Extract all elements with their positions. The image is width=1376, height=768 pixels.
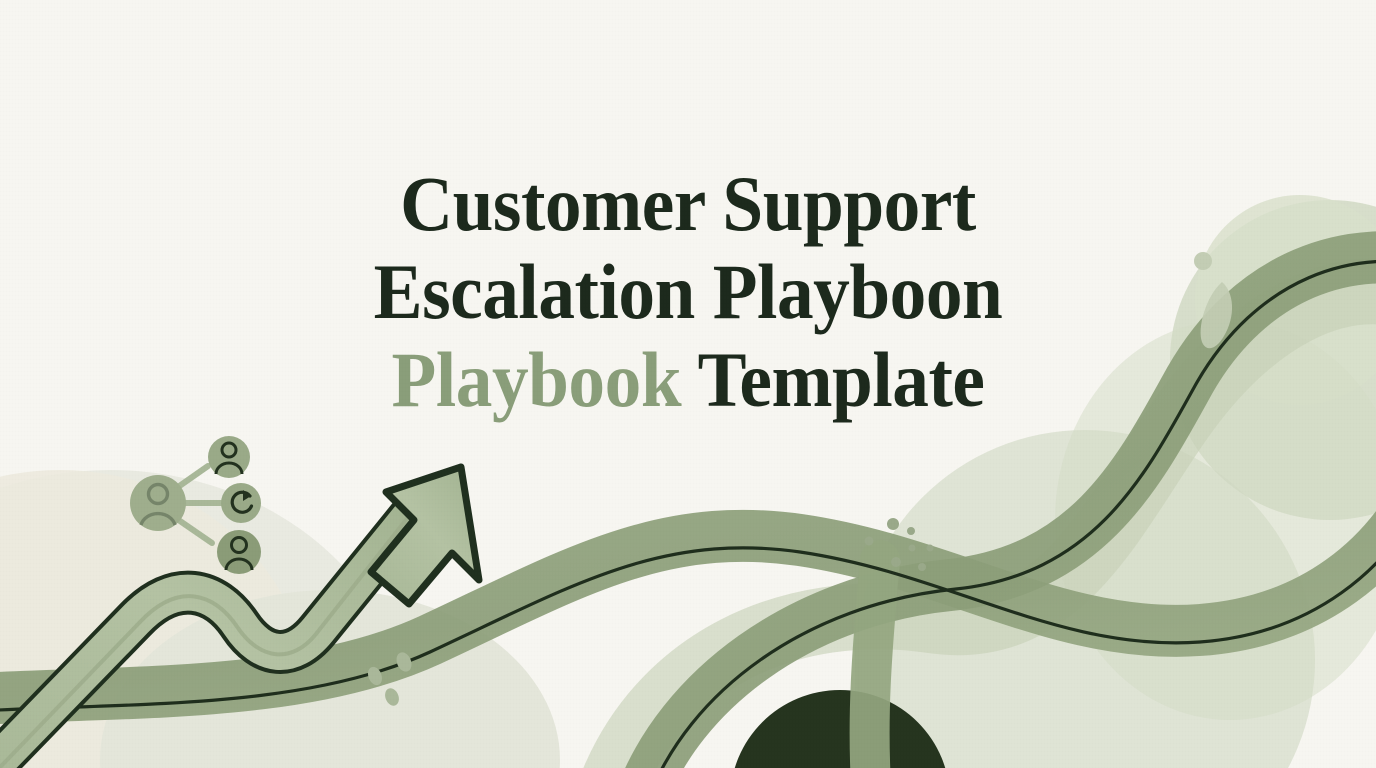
- title-line-3-text: Template: [681, 336, 984, 423]
- title-slide: Customer Support Escalation Playboon Pla…: [0, 0, 1376, 768]
- person-node-bottom: [217, 530, 261, 574]
- title-line-3: Playbook Template: [79, 336, 1297, 424]
- title-line-2: Escalation Playboon: [79, 248, 1297, 336]
- refresh-node: [221, 483, 261, 523]
- primary-person-node: [130, 475, 186, 531]
- title-accent-word: Playbook: [392, 336, 682, 423]
- title-line-2-text: Escalation Playboon: [374, 248, 1003, 335]
- page-title: Customer Support Escalation Playboon Pla…: [0, 160, 1376, 424]
- person-node-top: [208, 436, 250, 478]
- title-line-1-text: Customer Support: [400, 160, 976, 247]
- title-line-1: Customer Support: [79, 160, 1297, 248]
- ribbon-band-c: [870, 560, 880, 768]
